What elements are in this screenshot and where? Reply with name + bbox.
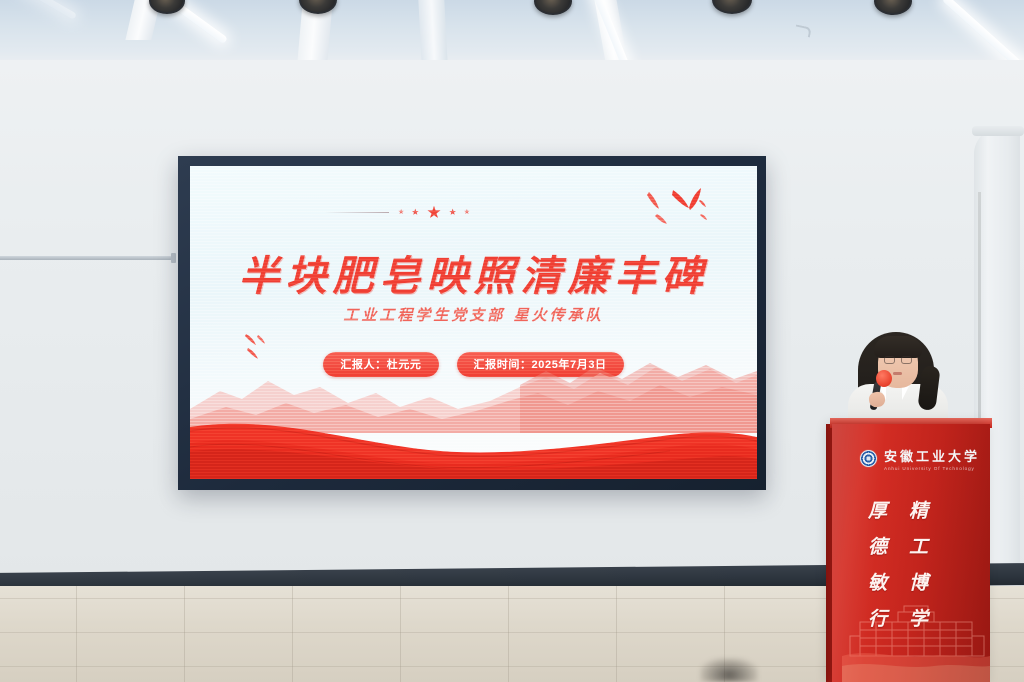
motto-char: 厚 [868, 496, 887, 523]
motto-char: 工 [909, 532, 928, 559]
floor-object [700, 658, 758, 682]
microphone-icon[interactable] [876, 370, 892, 387]
hair-fringe [874, 336, 922, 358]
mouth [893, 372, 902, 375]
wall-rail [0, 256, 172, 260]
ceiling [0, 0, 1024, 66]
star-icon: ★ [411, 208, 419, 217]
slide-canvas: ★ ★ ★ ★ ★ 半块肥皂映照清廉丰碑 工业工程学生党支部 星火传承队 [190, 166, 757, 479]
slide-subtitle: 工业工程学生党支部 星火传承队 [190, 304, 757, 325]
led-display-panel[interactable]: ★ ★ ★ ★ ★ 半块肥皂映照清廉丰碑 工业工程学生党支部 星火传承队 [178, 156, 766, 490]
lecture-hall-scene: ★ ★ ★ ★ ★ 半块肥皂映照清廉丰碑 工业工程学生党支部 星火传承队 [0, 0, 1024, 682]
star-icon: ★ [398, 209, 404, 216]
ceiling-beam [418, 0, 447, 64]
motto-char: 博 [909, 568, 928, 595]
eyeglasses-icon [884, 356, 912, 364]
red-ribbon-wave [190, 387, 757, 479]
ceiling-spotlight [712, 0, 752, 14]
podium: 安徽工业大学 Anhui University Of Technology 精 … [832, 424, 990, 682]
motto-char: 精 [909, 496, 928, 523]
star-icon: ★ [449, 208, 457, 217]
presenter [836, 322, 960, 426]
university-names: 安徽工业大学 Anhui University Of Technology [884, 446, 980, 471]
five-stars-decoration: ★ ★ ★ ★ ★ [398, 204, 470, 221]
ceiling-spotlight [874, 0, 912, 15]
ceiling-spotlight [534, 0, 572, 15]
university-branding: 安徽工业大学 Anhui University Of Technology [860, 446, 980, 471]
decor-line [325, 212, 389, 213]
pillar-cap [972, 126, 1024, 136]
star-icon: ★ [464, 209, 470, 216]
campus-building-illustration [842, 596, 990, 682]
flying-birds-icon [639, 184, 709, 228]
university-seal-icon [860, 450, 877, 467]
star-icon: ★ [426, 204, 441, 221]
university-name-cn: 安徽工业大学 [884, 446, 980, 465]
motto-char: 敏 [868, 568, 887, 595]
slide-title: 半块肥皂映照清廉丰碑 [190, 242, 757, 302]
ceiling-hook [794, 24, 812, 37]
fluorescent-tube-light [13, 0, 77, 20]
motto-char: 德 [868, 532, 887, 559]
university-name-en: Anhui University Of Technology [884, 466, 980, 471]
